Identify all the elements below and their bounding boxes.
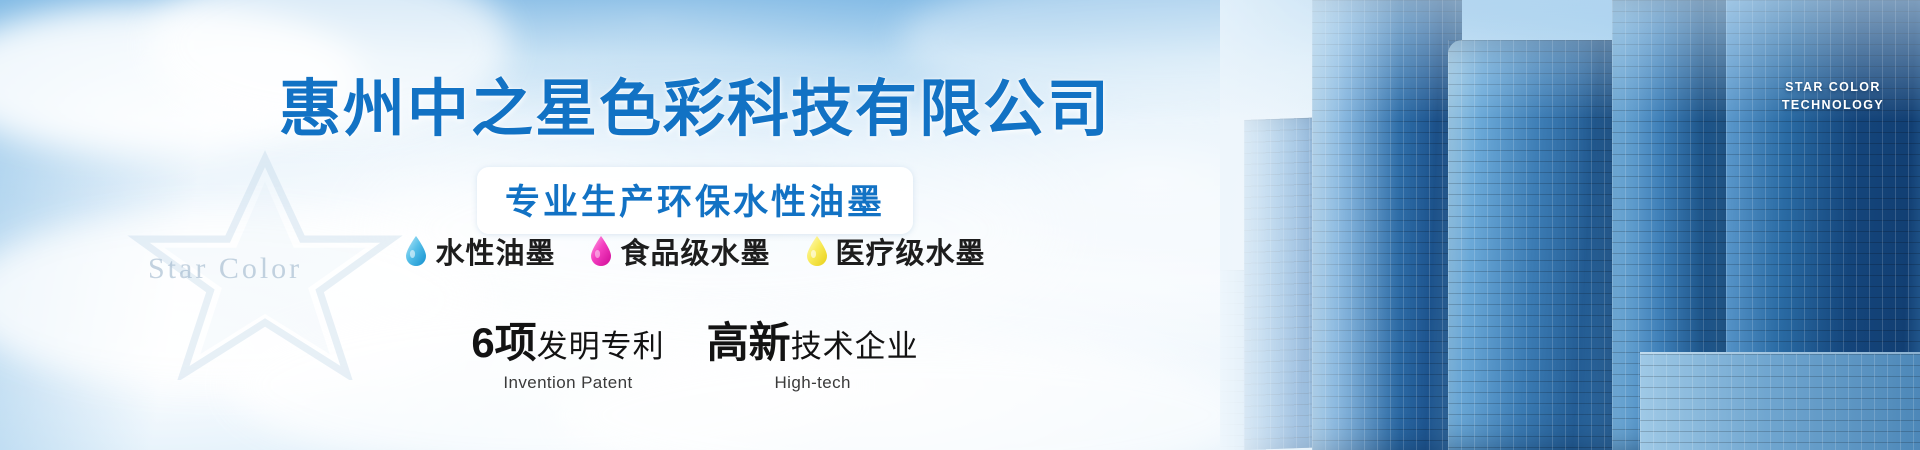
company-title: 惠州中之星色彩科技有限公司 [0,58,1390,148]
promotional-banner: Star Color STAR COLOR TECHNOLOGY 惠州中之星色彩… [0,0,1920,450]
badge-suffix: 技术企业 [791,329,919,364]
corner-watermark-line-1: STAR COLOR [1758,78,1908,96]
feature-list: 水性油墨 [0,230,1390,272]
feature-item: 医疗级水墨 [805,230,986,272]
feature-item: 水性油墨 [404,230,555,272]
water-drop-icon [404,235,428,267]
badge-invention-patent: 6项发明专利 Invention Patent [471,322,664,393]
building-tower [1726,0,1920,450]
feature-item: 食品级水墨 [589,230,770,272]
badge-english-label: High-tech [707,373,919,393]
corner-watermark-line-2: TECHNOLOGY [1758,96,1908,114]
banner-content: 惠州中之星色彩科技有限公司 专业生产环保水性油墨 [0,0,1390,450]
badge-prefix: 6项 [471,319,536,366]
water-drop-icon [589,235,613,267]
credential-badges: 6项发明专利 Invention Patent 高新技术企业 High-tech [0,322,1390,393]
building-base [1640,352,1920,450]
subtitle-container: 专业生产环保水性油墨 [0,167,1390,234]
feature-label: 食品级水墨 [620,230,770,272]
badge-english-label: Invention Patent [471,373,664,393]
feature-label: 医疗级水墨 [836,230,986,272]
badge-high-tech: 高新技术企业 High-tech [707,322,919,393]
subtitle-pill: 专业生产环保水性油墨 [477,167,913,234]
feature-label: 水性油墨 [435,230,555,272]
building-tower [1612,0,1740,450]
badge-title: 6项发明专利 [471,322,664,364]
badge-prefix: 高新 [707,319,791,366]
badge-title: 高新技术企业 [707,322,919,364]
corner-watermark: STAR COLOR TECHNOLOGY [1758,78,1908,114]
water-drop-icon [805,235,829,267]
building-tower [1448,40,1626,450]
badge-suffix: 发明专利 [537,329,665,364]
